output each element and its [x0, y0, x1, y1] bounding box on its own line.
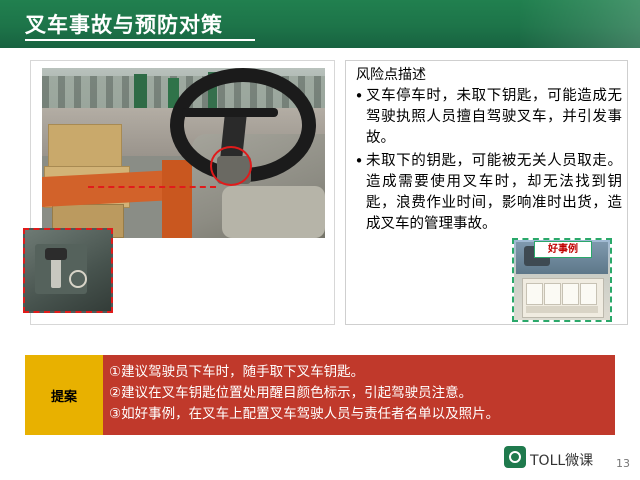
red-circle-annotation-icon: [210, 146, 252, 186]
suggestion-line: ②建议在叉车钥匙位置处用醒目颜色标示，引起驾驶员注意。: [109, 383, 609, 404]
closeup-key-ring: [69, 270, 87, 288]
page-number: 13: [616, 457, 630, 470]
key-board-cell: [526, 283, 543, 305]
slide: 叉车事故与预防对策 风险点描述 • 叉车停车时，未取下钥: [0, 0, 640, 480]
photo-carton-1: [48, 124, 122, 170]
risk-item-text: 未取下的钥匙，可能被无关人员取走。造成需要使用叉车时，却无法找到钥匙，浪费作业时…: [366, 151, 622, 235]
suggestion-line: ①建议驾驶员下车时，随手取下叉车钥匙。: [109, 362, 609, 383]
forklift-cabin-photo: [42, 68, 325, 238]
suggestion-label: 提案: [25, 355, 103, 435]
photo-dashboard-lower: [222, 186, 325, 238]
brand-name: TOLL微课: [530, 450, 593, 470]
risk-description-title: 风险点描述: [356, 64, 426, 84]
bullet-icon: •: [352, 151, 366, 235]
page-title: 叉车事故与预防对策: [25, 9, 223, 39]
suggestion-line: ③如好事例，在叉车上配置叉车驾驶人员与责任者名单以及照片。: [109, 404, 609, 425]
key-board-strip: [526, 306, 598, 313]
title-underline: [25, 39, 255, 41]
ignition-key-closeup-photo: [23, 228, 113, 313]
brand-logo-ring-icon: [509, 451, 521, 463]
key-board-cell: [580, 283, 597, 305]
list-item: • 未取下的钥匙，可能被无关人员取走。造成需要使用叉车时，却无法找到钥匙，浪费作…: [352, 151, 622, 235]
good-example-label: 好事例: [534, 241, 592, 258]
good-example-key-board: [522, 278, 604, 318]
closeup-key-head: [45, 248, 67, 260]
list-item: • 叉车停车时，未取下钥匙，可能造成无驾驶执照人员擅自驾驶叉车，并引发事故。: [352, 86, 622, 149]
key-board-cell: [562, 283, 579, 305]
risk-item-text: 叉车停车时，未取下钥匙，可能造成无驾驶执照人员擅自驾驶叉车，并引发事故。: [366, 86, 622, 149]
photo-steering-spoke: [182, 108, 278, 117]
key-board-cell: [544, 283, 561, 305]
suggestion-body: ①建议驾驶员下车时，随手取下叉车钥匙。 ②建议在叉车钥匙位置处用醒目颜色标示，引…: [103, 355, 615, 435]
header-accent-shape: [520, 0, 640, 48]
risk-description-list: • 叉车停车时，未取下钥匙，可能造成无驾驶执照人员擅自驾驶叉车，并引发事故。 •…: [352, 86, 622, 237]
red-dashed-callout-line: [88, 186, 216, 188]
bullet-icon: •: [352, 86, 366, 149]
